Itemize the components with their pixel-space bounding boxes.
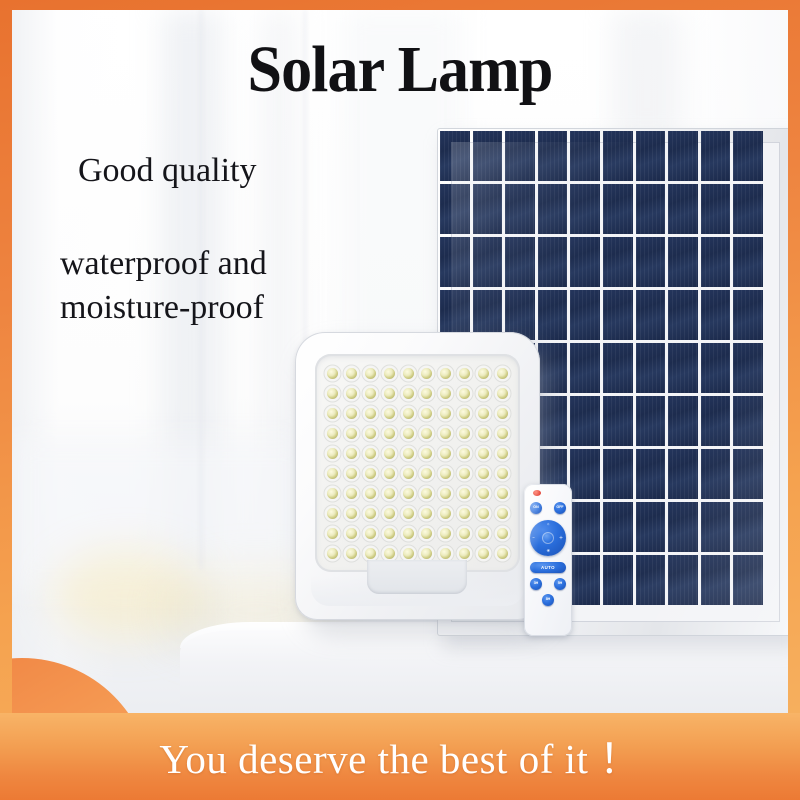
solar-cell: [701, 343, 731, 393]
solar-cell: [701, 555, 731, 605]
led-chip: [342, 383, 361, 403]
led-chip: [455, 463, 474, 483]
solar-cell: [570, 290, 600, 340]
solar-cell: [473, 131, 503, 181]
led-chip: [455, 403, 474, 423]
solar-cell: [603, 184, 633, 234]
led-chip: [436, 483, 455, 503]
led-chip: [474, 483, 493, 503]
solar-cell: [603, 131, 633, 181]
led-chip: [474, 523, 493, 543]
solar-cell: [570, 555, 600, 605]
led-chip: [474, 443, 493, 463]
feature-lines-waterproof: waterproof and moisture-proof: [60, 242, 267, 329]
solar-cell: [668, 290, 698, 340]
led-chip: [380, 463, 399, 483]
remote-timer-5h-button[interactable]: 5H: [554, 578, 566, 590]
led-chip: [399, 383, 418, 403]
solar-cell: [733, 131, 763, 181]
led-chip: [399, 523, 418, 543]
solar-cell: [603, 290, 633, 340]
led-chip: [380, 443, 399, 463]
solar-cell: [440, 131, 470, 181]
led-chip: [455, 363, 474, 383]
led-chip: [455, 523, 474, 543]
led-chip: [342, 423, 361, 443]
solar-cell: [538, 131, 568, 181]
led-chip: [323, 523, 342, 543]
led-chip: [493, 483, 512, 503]
solar-cell: [733, 449, 763, 499]
led-chip: [493, 523, 512, 543]
led-chip: [342, 443, 361, 463]
led-chip: [436, 523, 455, 543]
led-chip: [493, 543, 512, 563]
led-chip: [455, 483, 474, 503]
solar-cell: [701, 449, 731, 499]
led-chip: [417, 463, 436, 483]
solar-cell: [570, 449, 600, 499]
solar-cell: [636, 449, 666, 499]
led-chip: [455, 503, 474, 523]
led-chip: [474, 383, 493, 403]
dpad-center-button[interactable]: [542, 532, 554, 544]
remote-on-button[interactable]: ON: [530, 502, 542, 514]
led-chip: [436, 443, 455, 463]
led-chip: [474, 423, 493, 443]
led-chip: [417, 503, 436, 523]
led-chip: [361, 383, 380, 403]
solar-cell: [636, 555, 666, 605]
led-chip: [493, 503, 512, 523]
solar-cell: [668, 555, 698, 605]
led-chip: [342, 483, 361, 503]
solar-cell: [636, 184, 666, 234]
led-chip: [417, 363, 436, 383]
led-chip: [323, 423, 342, 443]
solar-cell: [733, 237, 763, 287]
led-grid: [323, 363, 512, 563]
led-chip: [399, 463, 418, 483]
dpad-up-icon[interactable]: ☼: [547, 522, 551, 526]
led-chip: [493, 403, 512, 423]
led-chip: [380, 523, 399, 543]
led-chip: [399, 503, 418, 523]
led-chip: [493, 383, 512, 403]
solar-cell: [701, 396, 731, 446]
led-chip: [417, 403, 436, 423]
solar-cell: [701, 290, 731, 340]
led-chip: [417, 443, 436, 463]
led-chip: [455, 383, 474, 403]
dpad-left-icon[interactable]: −: [533, 536, 535, 540]
solar-cell: [701, 131, 731, 181]
led-chip: [493, 443, 512, 463]
led-chip: [380, 363, 399, 383]
solar-cell: [570, 237, 600, 287]
led-chip: [399, 423, 418, 443]
solar-cell: [603, 396, 633, 446]
solar-cell: [636, 396, 666, 446]
led-chip: [361, 523, 380, 543]
led-chip: [493, 363, 512, 383]
led-chip: [493, 423, 512, 443]
solar-cell: [538, 237, 568, 287]
solar-cell: [505, 131, 535, 181]
led-chip: [323, 443, 342, 463]
led-chip: [342, 543, 361, 563]
led-chip: [474, 503, 493, 523]
led-chip: [323, 383, 342, 403]
solar-cell: [538, 184, 568, 234]
remote-dpad[interactable]: ☼ ☀ − ＋: [530, 520, 566, 556]
remote-timer-8h-button[interactable]: 8H: [542, 594, 554, 606]
led-chip: [323, 503, 342, 523]
led-chip: [361, 463, 380, 483]
led-chip: [342, 463, 361, 483]
page-title: Solar Lamp: [35, 32, 764, 108]
solar-cell: [636, 290, 666, 340]
solar-cell: [668, 184, 698, 234]
led-chip: [436, 463, 455, 483]
solar-cell: [733, 396, 763, 446]
led-chip: [436, 383, 455, 403]
solar-cell: [570, 396, 600, 446]
remote-auto-button[interactable]: AUTO: [530, 562, 566, 573]
led-chip: [361, 363, 380, 383]
led-chip: [380, 423, 399, 443]
led-chip: [323, 363, 342, 383]
solar-cell: [603, 555, 633, 605]
led-chip: [436, 423, 455, 443]
solar-cell: [636, 131, 666, 181]
remote-led-indicator-icon: [533, 490, 541, 496]
decorative-orange-circle: [12, 658, 152, 713]
solar-cell: [733, 502, 763, 552]
bottom-banner: You deserve the best of it ！: [0, 713, 800, 800]
led-chip: [380, 503, 399, 523]
led-chip: [342, 363, 361, 383]
led-chip: [399, 483, 418, 503]
solar-cell: [603, 237, 633, 287]
banner-slogan: You deserve the best of it ！: [159, 725, 640, 785]
solar-cell: [636, 343, 666, 393]
led-chip: [399, 403, 418, 423]
led-chip: [417, 423, 436, 443]
lamp-housing: [295, 332, 540, 620]
led-chip: [474, 543, 493, 563]
solar-cell: [733, 343, 763, 393]
led-chip: [474, 363, 493, 383]
solar-cell: [570, 184, 600, 234]
led-chip: [436, 503, 455, 523]
led-chip: [323, 403, 342, 423]
solar-cell: [603, 449, 633, 499]
led-chip: [361, 483, 380, 503]
led-chip: [361, 443, 380, 463]
led-chip: [417, 383, 436, 403]
solar-cell: [668, 502, 698, 552]
led-chip: [361, 403, 380, 423]
solar-cell: [701, 502, 731, 552]
led-chip: [342, 403, 361, 423]
feature-line-quality: Good quality: [78, 152, 256, 190]
solar-cell: [505, 184, 535, 234]
product-photo-area: Solar Lamp Good quality waterproof and m…: [12, 10, 788, 713]
led-chip: [342, 523, 361, 543]
solar-cell: [603, 343, 633, 393]
remote-timer-3h-button[interactable]: 3H: [530, 578, 542, 590]
solar-cell: [701, 237, 731, 287]
led-chip: [323, 463, 342, 483]
led-chip: [361, 423, 380, 443]
solar-cell: [440, 184, 470, 234]
dpad-down-icon[interactable]: ☀: [547, 549, 551, 553]
led-chip: [380, 403, 399, 423]
dpad-right-icon[interactable]: ＋: [559, 536, 563, 540]
solar-cell: [636, 237, 666, 287]
solar-cell: [668, 131, 698, 181]
feature-line-moisture: moisture-proof: [60, 286, 267, 330]
led-chip: [323, 483, 342, 503]
led-chip: [417, 523, 436, 543]
solar-cell: [668, 237, 698, 287]
solar-cell: [733, 555, 763, 605]
solar-cell: [668, 449, 698, 499]
led-chip: [436, 363, 455, 383]
solar-cell: [505, 237, 535, 287]
solar-cell: [473, 184, 503, 234]
led-chip: [474, 403, 493, 423]
solar-cell: [603, 502, 633, 552]
led-flood-lamp: [295, 332, 550, 632]
solar-cell: [701, 184, 731, 234]
solar-cell: [636, 502, 666, 552]
led-chip: [474, 463, 493, 483]
led-chip: [342, 503, 361, 523]
led-chip: [380, 483, 399, 503]
led-chip: [399, 443, 418, 463]
led-chip: [455, 443, 474, 463]
solar-cell: [570, 131, 600, 181]
led-chip: [417, 483, 436, 503]
solar-cell: [733, 290, 763, 340]
solar-cell: [733, 184, 763, 234]
remote-off-button[interactable]: OFF: [554, 502, 566, 514]
led-chip: [399, 363, 418, 383]
solar-cell: [668, 343, 698, 393]
led-chip: [380, 383, 399, 403]
solar-cell: [668, 396, 698, 446]
led-chip: [361, 503, 380, 523]
solar-cell: [570, 502, 600, 552]
feature-line-waterproof: waterproof and: [60, 242, 267, 286]
lamp-mount-notch: [367, 560, 467, 594]
solar-cell: [570, 343, 600, 393]
product-poster: Solar Lamp Good quality waterproof and m…: [0, 0, 800, 800]
remote-control[interactable]: ON OFF ☼ ☀ − ＋ AUTO 3H 5H 8H: [524, 484, 572, 636]
led-chip: [455, 423, 474, 443]
led-chip: [323, 543, 342, 563]
led-chip: [493, 463, 512, 483]
lamp-led-face: [315, 354, 520, 572]
solar-cell: [440, 237, 470, 287]
solar-cell: [473, 237, 503, 287]
led-chip: [436, 403, 455, 423]
